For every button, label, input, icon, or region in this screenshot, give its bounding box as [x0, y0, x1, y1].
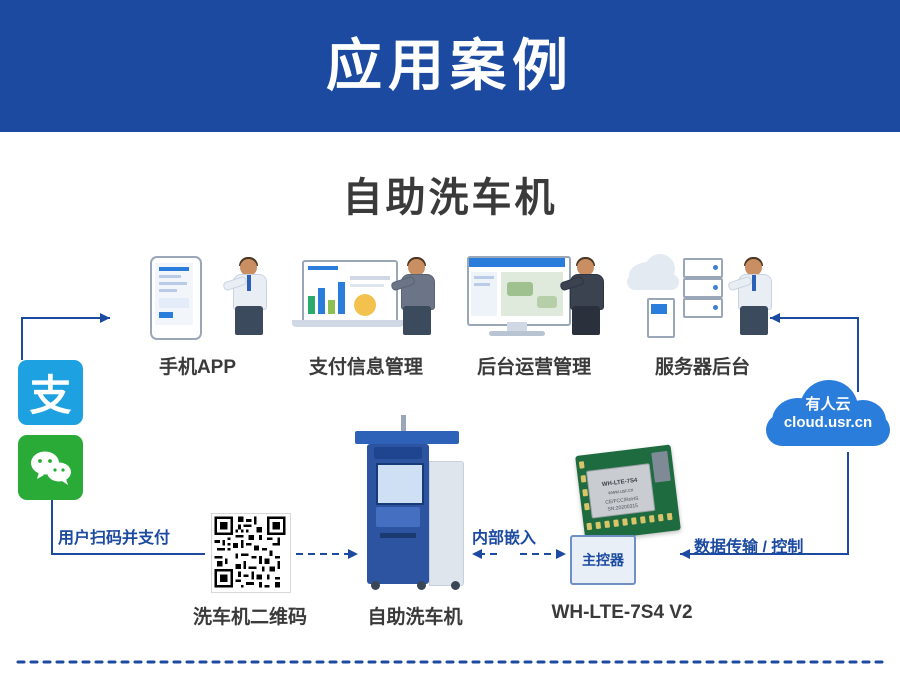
flow-label-data-transfer: 数据传输 / 控制	[694, 533, 803, 557]
bottom-label-qr-code: 洗车机二维码	[175, 602, 325, 629]
top-item-payment-info	[288, 252, 443, 352]
controller-box: 主控器	[570, 535, 636, 585]
label-payment-info: 支付信息管理	[288, 352, 443, 379]
flow-label-embedded: 内部嵌入	[472, 524, 536, 548]
module-shield: WH-LTE-7S4 www.usr.cn CE/FCC/RoHS SN:202…	[586, 463, 655, 518]
laptop-chart-icon	[288, 252, 443, 337]
wechat-pay-icon	[18, 435, 83, 500]
cloud-line-1: 有人云	[762, 396, 894, 414]
header-banner: 应用案例	[0, 0, 900, 132]
wh-lte-7s4-module-icon: WH-LTE-7S4 www.usr.cn CE/FCC/RoHS SN:202…	[575, 444, 681, 541]
alipay-glyph: 支	[29, 362, 71, 423]
top-row-icons	[120, 252, 780, 367]
person-figure	[566, 259, 606, 335]
top-item-backend-ops	[457, 252, 612, 352]
server-cloud-icon	[625, 252, 780, 337]
module-antenna-connector	[651, 451, 671, 483]
top-row-labels: 手机APP 支付信息管理 后台运营管理 服务器后台	[120, 352, 780, 379]
application-case-diagram: 应用案例 自助洗车机	[0, 0, 900, 680]
top-item-server-backend	[625, 252, 780, 352]
alipay-icon: 支	[18, 360, 83, 425]
wechat-glyph	[29, 450, 73, 486]
top-item-mobile-app	[120, 252, 275, 352]
smartphone-icon	[120, 252, 275, 337]
qr-code	[211, 513, 291, 593]
person-figure	[734, 259, 774, 335]
qr-code-image	[212, 514, 288, 590]
subtitle: 自助洗车机	[0, 165, 900, 223]
self-service-car-wash-machine-icon	[355, 415, 470, 590]
page-title: 应用案例	[326, 38, 574, 94]
label-mobile-app: 手机APP	[120, 352, 275, 379]
bottom-label-kiosk: 自助洗车机	[340, 602, 490, 629]
usr-cloud-icon: 有人云 cloud.usr.cn	[762, 378, 894, 452]
person-figure	[229, 259, 269, 335]
label-backend-ops: 后台运营管理	[457, 352, 612, 379]
person-figure	[397, 259, 437, 335]
label-server-backend: 服务器后台	[625, 352, 780, 379]
desktop-monitor-icon	[457, 252, 612, 337]
bottom-label-module: WH-LTE-7S4 V2	[522, 602, 722, 624]
cloud-line-2: cloud.usr.cn	[762, 414, 894, 432]
flow-label-scan-pay: 用户扫码并支付	[58, 524, 170, 548]
controller-label: 主控器	[582, 550, 624, 570]
cloud-text: 有人云 cloud.usr.cn	[762, 396, 894, 432]
